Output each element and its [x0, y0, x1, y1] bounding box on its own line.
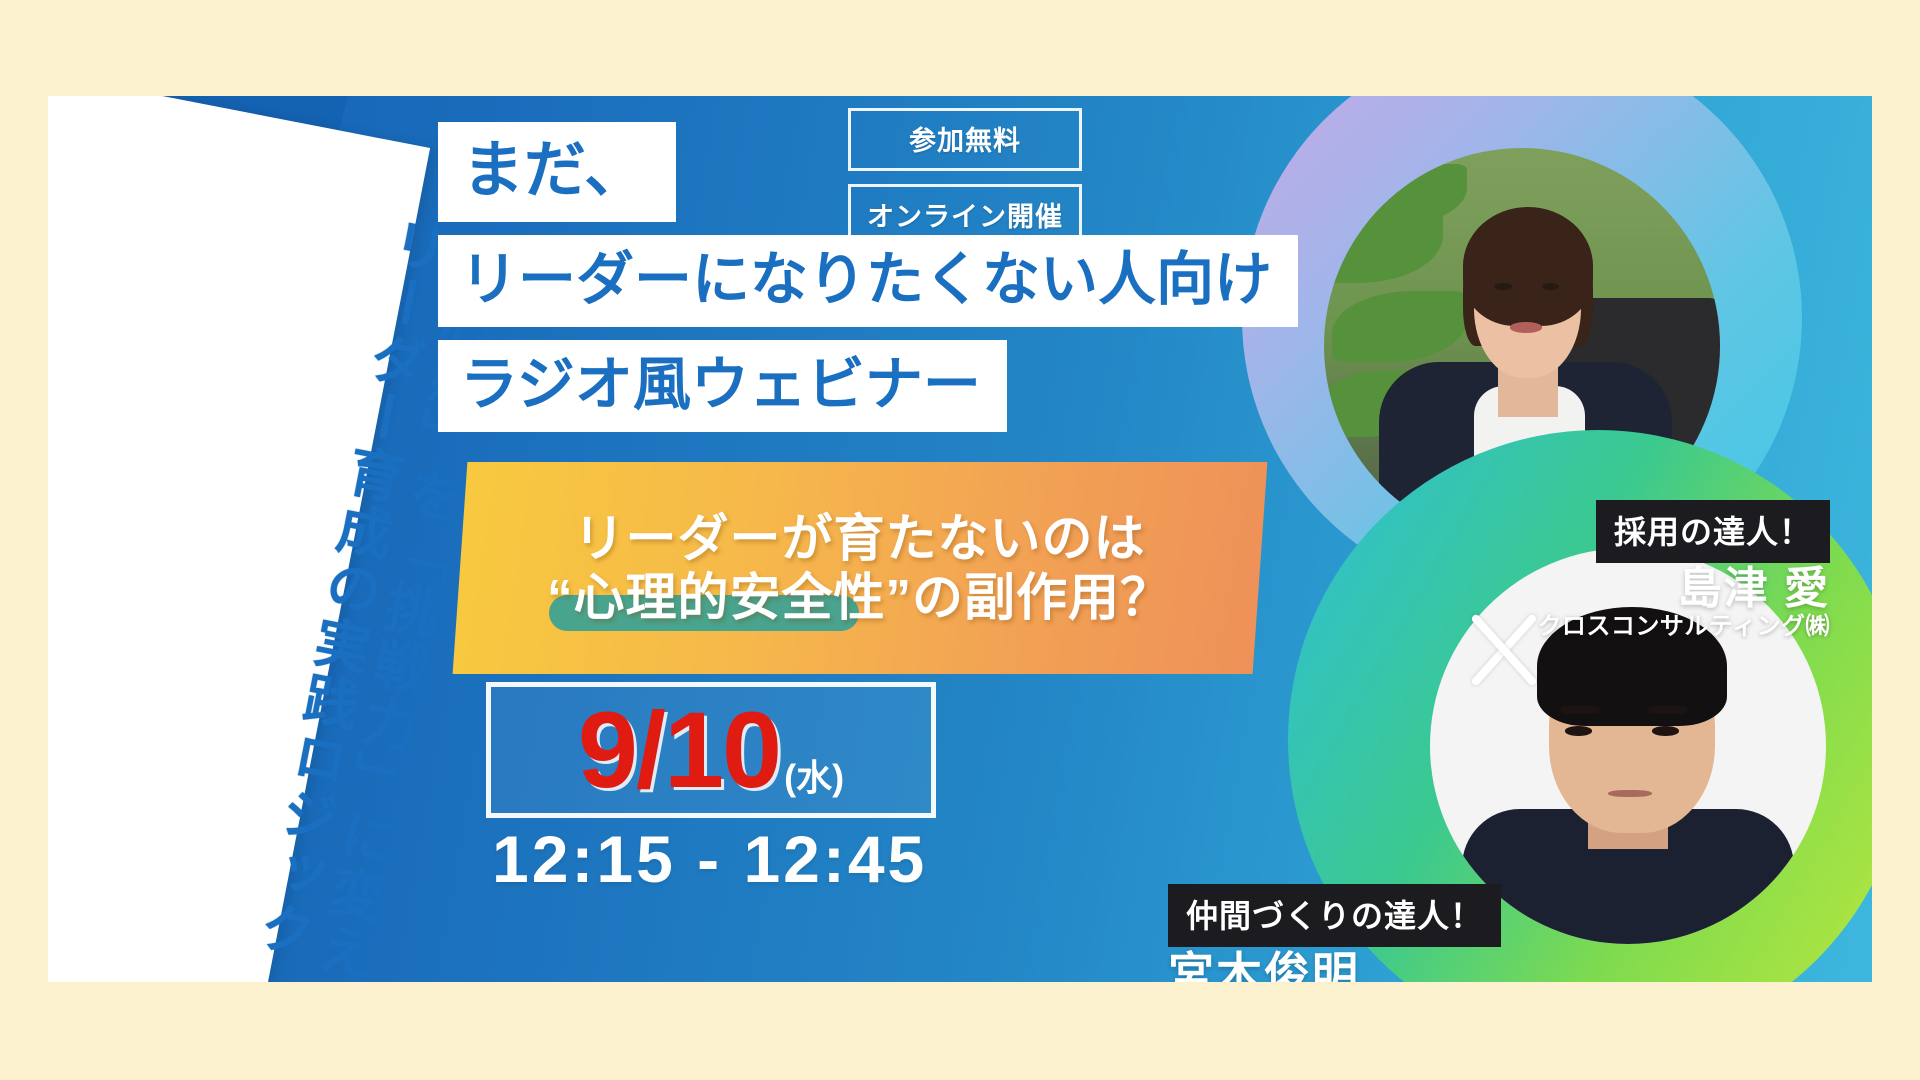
speaker-b-name: 宮木俊明: [1168, 949, 1545, 982]
webinar-banner: 「安心感」を「挑戦力」に変える リーダー育成の実践ロジック まだ、 リーダーにな…: [48, 96, 1872, 982]
speaker-b-caption: 仲間づくりの達人！ 宮木俊明 グロースワークス合同会社 代表: [1168, 884, 1545, 982]
tag-group: 参加無料 オンライン開催: [848, 108, 1082, 260]
date-box: 9/10 (水): [486, 682, 936, 818]
speaker-a-caption: 採用の達人！ 島津 愛 クロスコンサルティング㈱: [1537, 500, 1830, 641]
headline-line-1: まだ、: [438, 122, 676, 222]
tag-free-participation: 参加無料: [848, 108, 1082, 171]
time-range: 12:15 - 12:45: [486, 826, 936, 892]
subtitle-band: リーダーが育たないのは “心理的安全性”の副作用？: [453, 462, 1268, 674]
speaker-a-name: 島津 愛: [1537, 565, 1830, 613]
tag-online-event: オンライン開催: [848, 184, 1082, 247]
date-day-of-week: (水): [784, 749, 844, 801]
schedule-block: 9/10 (水) 12:15 - 12:45: [486, 682, 936, 892]
subtitle-line-2: “心理的安全性”の副作用？: [547, 568, 1172, 627]
speaker-a-badge: 採用の達人！: [1596, 500, 1830, 563]
subtitle-line-1: リーダーが育たないのは: [547, 509, 1172, 568]
speaker-a-organization: クロスコンサルティング㈱: [1537, 613, 1830, 641]
date-value: 9/10: [578, 696, 780, 804]
speaker-b-badge: 仲間づくりの達人！: [1168, 884, 1501, 947]
headline-line-3: ラジオ風ウェビナー: [438, 340, 1007, 432]
